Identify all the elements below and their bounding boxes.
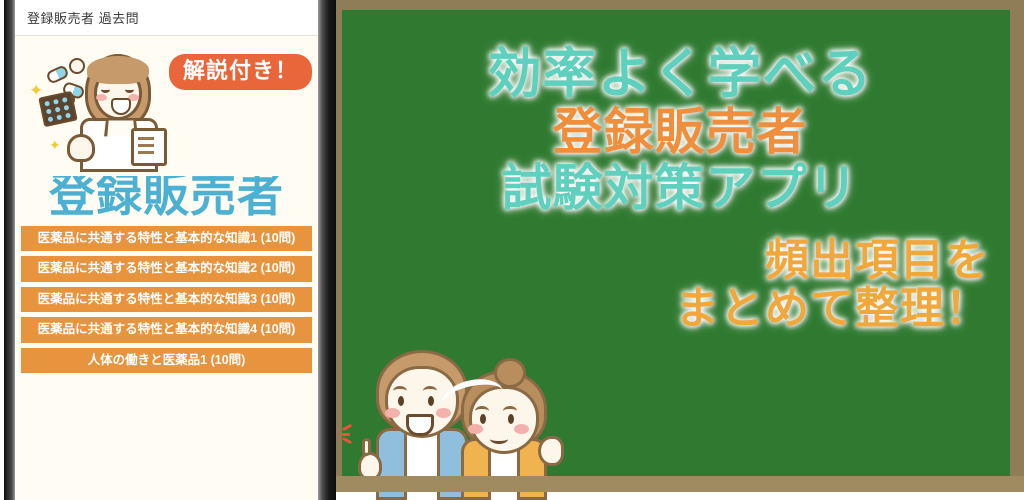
student-right-eye-right (508, 414, 514, 424)
app-bar-title: 登録販売者 過去問 (27, 8, 139, 27)
pharmacist-illustration-icon: ✦ ✦ (33, 46, 183, 171)
pharmacist-cheek-left (96, 94, 107, 101)
student-left-eye-right (428, 396, 434, 406)
phone-screen: 登録販売者 過去問 ✦ ✦ (15, 0, 318, 500)
clipboard-icon (131, 128, 167, 166)
student-right-eye-left (480, 414, 486, 424)
phone-bezel-right (318, 0, 336, 500)
list-item[interactable]: 人体の働きと医薬品1 (10問) (21, 348, 312, 373)
sparkle-icon: ✦ (49, 138, 61, 152)
list-item[interactable]: 医薬品に共通する特性と基本的な知識4 (10問) (21, 317, 312, 342)
phone-screenshot-panel: 登録販売者 過去問 ✦ ✦ (0, 0, 336, 500)
student-left-cheek-left (385, 408, 400, 418)
status-badge: 解説付き！ (169, 54, 312, 90)
pharmacist-eye-left (101, 86, 110, 93)
student-left-eye-left (398, 396, 404, 406)
chalkboard-promo-panel: 効率よく学べる 登録販売者 試験対策アプリ 頻出項目を まとめて整理！ (336, 0, 1024, 500)
student-left-brow-left (393, 386, 407, 396)
student-left-mouth (406, 414, 434, 436)
student-right-cheek-left (468, 424, 483, 434)
quiz-list: 医薬品に共通する特性と基本的な知識1 (10問) 医薬品に共通する特性と基本的な… (15, 226, 318, 373)
pointing-finger-icon (362, 438, 371, 456)
list-item[interactable]: 医薬品に共通する特性と基本的な知識2 (10問) (21, 256, 312, 281)
hero-section: ✦ ✦ (15, 36, 318, 176)
pharmacist-hand (67, 134, 95, 162)
pharmacist-fringe (87, 56, 149, 84)
student-right-cheek-right (514, 424, 529, 434)
page-title: 登録販売者 (15, 172, 318, 226)
student-right-mouth (490, 434, 508, 444)
list-item[interactable]: 医薬品に共通する特性と基本的な知識1 (10問) (21, 226, 312, 251)
student-left-brow-right (423, 386, 437, 396)
tablet-icon (69, 58, 85, 74)
emphasis-lines-icon (342, 426, 358, 442)
screenshot-root: 登録販売者 過去問 ✦ ✦ (0, 0, 1024, 500)
phone-bezel-left (4, 0, 15, 500)
pharmacist-eye-right (125, 86, 134, 93)
chalkboard-ledge (336, 476, 1024, 492)
app-bar: 登録販売者 過去問 (15, 0, 318, 36)
list-item[interactable]: 医薬品に共通する特性と基本的な知識3 (10問) (21, 287, 312, 312)
student-right-hand (538, 436, 564, 466)
pill-sheet-icon (38, 91, 77, 127)
